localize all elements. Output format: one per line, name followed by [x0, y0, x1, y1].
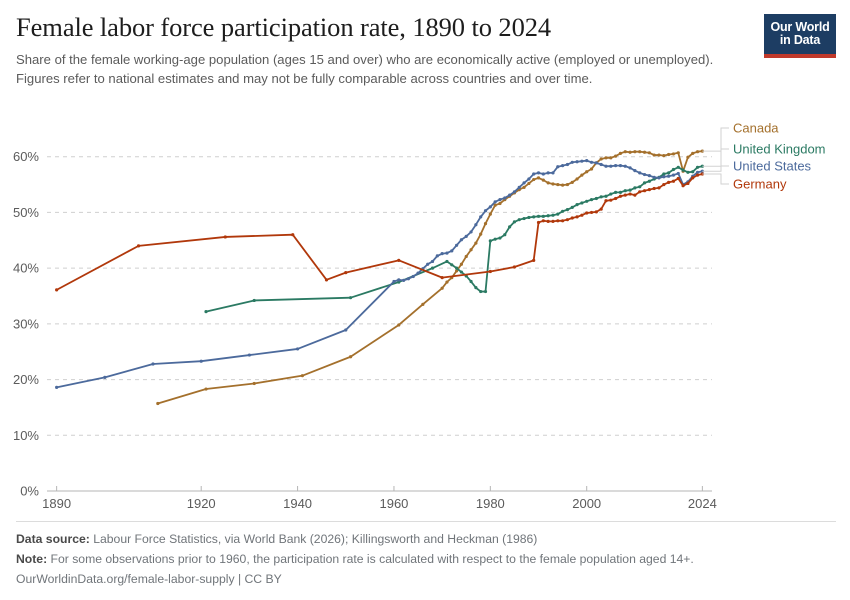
data-point [441, 252, 444, 255]
data-point [662, 154, 665, 157]
data-point [542, 179, 545, 182]
data-point [662, 183, 665, 186]
data-point [571, 206, 574, 209]
data-source-line: Data source: Labour Force Statistics, vi… [16, 530, 836, 550]
data-point [513, 190, 516, 193]
series-united-states[interactable] [55, 159, 704, 389]
data-point [561, 184, 564, 187]
x-axis-tick-label: 1940 [283, 496, 312, 511]
data-point [489, 270, 492, 273]
data-point [479, 233, 482, 236]
data-point [556, 165, 559, 168]
series-canada[interactable] [156, 150, 704, 406]
data-point [619, 195, 622, 198]
x-axis-tick-label: 1890 [42, 496, 71, 511]
legend-label-united-kingdom[interactable]: United Kingdom [733, 142, 826, 157]
data-point [672, 168, 675, 171]
y-axis-tick-label: 30% [13, 316, 39, 331]
x-axis-tick-label: 1920 [187, 496, 216, 511]
data-point [585, 170, 588, 173]
data-point [575, 160, 578, 163]
data-point [686, 171, 689, 174]
data-point [397, 259, 400, 262]
data-point [416, 272, 419, 275]
data-point [643, 173, 646, 176]
data-point [686, 182, 689, 185]
data-point [537, 176, 540, 179]
data-point [580, 174, 583, 177]
data-point [595, 210, 598, 213]
data-point [547, 171, 550, 174]
data-point [407, 277, 410, 280]
data-point [508, 225, 511, 228]
y-axis-tick-label: 50% [13, 205, 39, 220]
legend-connector [702, 166, 729, 171]
data-point [561, 164, 564, 167]
data-point [628, 151, 631, 154]
data-point [643, 189, 646, 192]
data-point [431, 260, 434, 263]
x-axis-tick-label: 2000 [572, 496, 601, 511]
data-point [513, 265, 516, 268]
data-point [55, 288, 58, 291]
data-point [460, 238, 463, 241]
data-point [624, 194, 627, 197]
data-point [619, 191, 622, 194]
data-point [537, 221, 540, 224]
data-point [633, 150, 636, 153]
data-point [465, 255, 468, 258]
data-point [532, 178, 535, 181]
legend-connector [702, 128, 729, 151]
series-line [57, 174, 703, 290]
data-point [469, 248, 472, 251]
data-point [513, 220, 516, 223]
data-point [489, 205, 492, 208]
data-point [547, 181, 550, 184]
data-point [667, 171, 670, 174]
data-point [518, 218, 521, 221]
data-point [571, 181, 574, 184]
data-point [585, 211, 588, 214]
data-point [595, 197, 598, 200]
data-point [672, 152, 675, 155]
data-point [547, 220, 550, 223]
data-point [469, 280, 472, 283]
data-point [397, 323, 400, 326]
data-point [450, 249, 453, 252]
data-point [677, 151, 680, 154]
data-point [460, 263, 463, 266]
data-point [551, 220, 554, 223]
data-point [518, 186, 521, 189]
data-point [489, 239, 492, 242]
data-point [667, 175, 670, 178]
data-point [609, 156, 612, 159]
data-point [527, 177, 530, 180]
data-point [325, 278, 328, 281]
data-point [604, 199, 607, 202]
data-point [349, 355, 352, 358]
data-point [600, 157, 603, 160]
axis-group: 0%10%20%30%40%50%60%18901920194019601980… [13, 149, 717, 511]
note-text: For some observations prior to 1960, the… [51, 552, 694, 566]
data-point [450, 263, 453, 266]
data-point [344, 328, 347, 331]
data-point [301, 374, 304, 377]
data-point [696, 166, 699, 169]
data-point [571, 161, 574, 164]
data-point [542, 215, 545, 218]
data-point [585, 200, 588, 203]
data-point [633, 194, 636, 197]
data-point [542, 219, 545, 222]
data-point [561, 210, 564, 213]
data-point [691, 170, 694, 173]
legend-group: CanadaUnited KingdomUnited StatesGermany [702, 121, 825, 192]
data-point [638, 150, 641, 153]
data-point [474, 223, 477, 226]
data-point [686, 156, 689, 159]
data-point [662, 172, 665, 175]
data-point [436, 254, 439, 257]
data-point [696, 171, 699, 174]
data-point [484, 290, 487, 293]
data-point [566, 208, 569, 211]
y-axis-tick-label: 40% [13, 261, 39, 276]
x-axis-tick-label: 1960 [379, 496, 408, 511]
data-point [600, 163, 603, 166]
data-point [556, 213, 559, 216]
data-point [556, 219, 559, 222]
data-point [672, 174, 675, 177]
data-source-text: Labour Force Statistics, via World Bank … [93, 532, 537, 546]
data-point [426, 263, 429, 266]
x-axis-tick-label: 1980 [476, 496, 505, 511]
data-point [344, 271, 347, 274]
data-point [590, 161, 593, 164]
data-point [479, 290, 482, 293]
legend-label-germany[interactable]: Germany [733, 177, 787, 192]
data-point [653, 187, 656, 190]
data-point [551, 182, 554, 185]
data-point [575, 177, 578, 180]
note-label: Note: [16, 552, 47, 566]
line-chart-svg: 0%10%20%30%40%50%60%18901920194019601980… [0, 104, 850, 514]
series-united-kingdom[interactable] [204, 165, 704, 314]
data-point [556, 183, 559, 186]
data-point [547, 214, 550, 217]
data-point [614, 191, 617, 194]
data-point [474, 286, 477, 289]
series-line [57, 161, 703, 388]
data-point [614, 164, 617, 167]
data-point [532, 259, 535, 262]
data-point [667, 181, 670, 184]
page-title: Female labor force participation rate, 1… [16, 12, 756, 42]
legend-connector [702, 174, 729, 184]
data-point [465, 235, 468, 238]
data-point [614, 155, 617, 158]
note-line: Note: For some observations prior to 196… [16, 550, 836, 570]
data-point [628, 192, 631, 195]
data-point [537, 171, 540, 174]
data-point [561, 219, 564, 222]
data-point [412, 275, 415, 278]
data-point [479, 215, 482, 218]
data-point [681, 184, 684, 187]
data-point [604, 156, 607, 159]
data-point [204, 387, 207, 390]
data-point [484, 209, 487, 212]
data-point [441, 276, 444, 279]
data-point [200, 360, 203, 363]
data-point [633, 186, 636, 189]
data-point [638, 185, 641, 188]
data-point [696, 150, 699, 153]
data-point [224, 235, 227, 238]
logo-line-2: in Data [780, 34, 820, 48]
data-point [653, 176, 656, 179]
data-point [624, 189, 627, 192]
data-point [595, 161, 598, 164]
data-point [296, 347, 299, 350]
y-axis-tick-label: 60% [13, 149, 39, 164]
data-point [604, 165, 607, 168]
data-point [648, 188, 651, 191]
data-point [575, 203, 578, 206]
data-point [614, 197, 617, 200]
data-point [156, 402, 159, 405]
data-point [498, 202, 501, 205]
y-axis-tick-label: 20% [13, 372, 39, 387]
chart-footer: Data source: Labour Force Statistics, vi… [16, 521, 836, 589]
data-point [590, 167, 593, 170]
data-point [575, 215, 578, 218]
data-point [580, 160, 583, 163]
data-point [566, 218, 569, 221]
data-point [657, 176, 660, 179]
data-point [508, 194, 511, 197]
data-point [248, 353, 251, 356]
data-point [609, 192, 612, 195]
series-group [55, 150, 704, 406]
data-point [349, 296, 352, 299]
data-point [677, 177, 680, 180]
data-point [600, 195, 603, 198]
data-point [445, 260, 448, 263]
data-point [628, 189, 631, 192]
data-point [498, 236, 501, 239]
data-point [580, 201, 583, 204]
data-point [291, 233, 294, 236]
data-point [633, 169, 636, 172]
data-point [503, 233, 506, 236]
data-point [421, 303, 424, 306]
data-point [469, 230, 472, 233]
data-point [460, 270, 463, 273]
data-point [137, 244, 140, 247]
data-point [103, 376, 106, 379]
data-point [445, 280, 448, 283]
y-axis-tick-label: 10% [13, 428, 39, 443]
data-point [522, 217, 525, 220]
data-point [532, 215, 535, 218]
logo-line-1: Our World [770, 21, 829, 35]
data-point [566, 183, 569, 186]
data-point [204, 310, 207, 313]
data-point [657, 153, 660, 156]
data-point [657, 186, 660, 189]
legend-label-united-states[interactable]: United States [733, 159, 812, 174]
data-point [551, 171, 554, 174]
data-point [455, 244, 458, 247]
data-point [474, 241, 477, 244]
license-line[interactable]: OurWorldinData.org/female-labor-supply |… [16, 570, 836, 590]
data-point [527, 182, 530, 185]
series-germany[interactable] [55, 172, 704, 291]
data-point [677, 166, 680, 169]
data-point [498, 198, 501, 201]
owid-chart-page: Female labor force participation rate, 1… [0, 0, 850, 600]
data-point [624, 165, 627, 168]
data-point [667, 153, 670, 156]
data-point [455, 267, 458, 270]
data-point [527, 216, 530, 219]
data-point [643, 181, 646, 184]
data-point [484, 222, 487, 225]
our-world-in-data-logo[interactable]: Our World in Data [764, 14, 836, 58]
data-point [253, 299, 256, 302]
data-point [585, 159, 588, 162]
data-point [551, 214, 554, 217]
data-point [672, 180, 675, 183]
data-point [402, 279, 405, 282]
data-point [677, 172, 680, 175]
data-point [628, 166, 631, 169]
data-point [691, 152, 694, 155]
data-point [638, 190, 641, 193]
data-point [542, 172, 545, 175]
data-point [494, 238, 497, 241]
data-point [503, 196, 506, 199]
data-point [619, 164, 622, 167]
data-point [609, 199, 612, 202]
data-point [609, 165, 612, 168]
data-point [604, 195, 607, 198]
data-point [537, 215, 540, 218]
data-point [648, 180, 651, 183]
data-point [397, 278, 400, 281]
data-point [489, 213, 492, 216]
chart-header: Female labor force participation rate, 1… [16, 12, 756, 89]
data-point [494, 200, 497, 203]
data-point [643, 151, 646, 154]
data-point [600, 207, 603, 210]
data-point [681, 168, 684, 171]
data-point [590, 198, 593, 201]
legend-label-canada[interactable]: Canada [733, 121, 779, 136]
data-source-label: Data source: [16, 532, 90, 546]
data-point [653, 153, 656, 156]
data-point [696, 174, 699, 177]
data-point [648, 174, 651, 177]
data-point [691, 176, 694, 179]
data-point [253, 382, 256, 385]
data-point [445, 252, 448, 255]
data-point [662, 175, 665, 178]
data-point [392, 280, 395, 283]
chart-plot-area[interactable]: 0%10%20%30%40%50%60%18901920194019601980… [0, 104, 850, 514]
data-point [648, 151, 651, 154]
data-point [580, 214, 583, 217]
data-point [571, 216, 574, 219]
data-point [624, 150, 627, 153]
series-line [158, 151, 703, 403]
data-point [566, 163, 569, 166]
data-point [441, 287, 444, 290]
data-point [151, 362, 154, 365]
data-point [638, 171, 641, 174]
chart-subtitle: Share of the female working-age populati… [16, 51, 738, 88]
series-line [206, 166, 702, 311]
data-point [532, 172, 535, 175]
data-point [522, 181, 525, 184]
data-point [590, 211, 593, 214]
y-axis-tick-label: 0% [20, 484, 39, 499]
data-point [522, 186, 525, 189]
data-point [619, 152, 622, 155]
data-point [431, 267, 434, 270]
data-point [55, 386, 58, 389]
x-axis-tick-label: 2024 [688, 496, 717, 511]
